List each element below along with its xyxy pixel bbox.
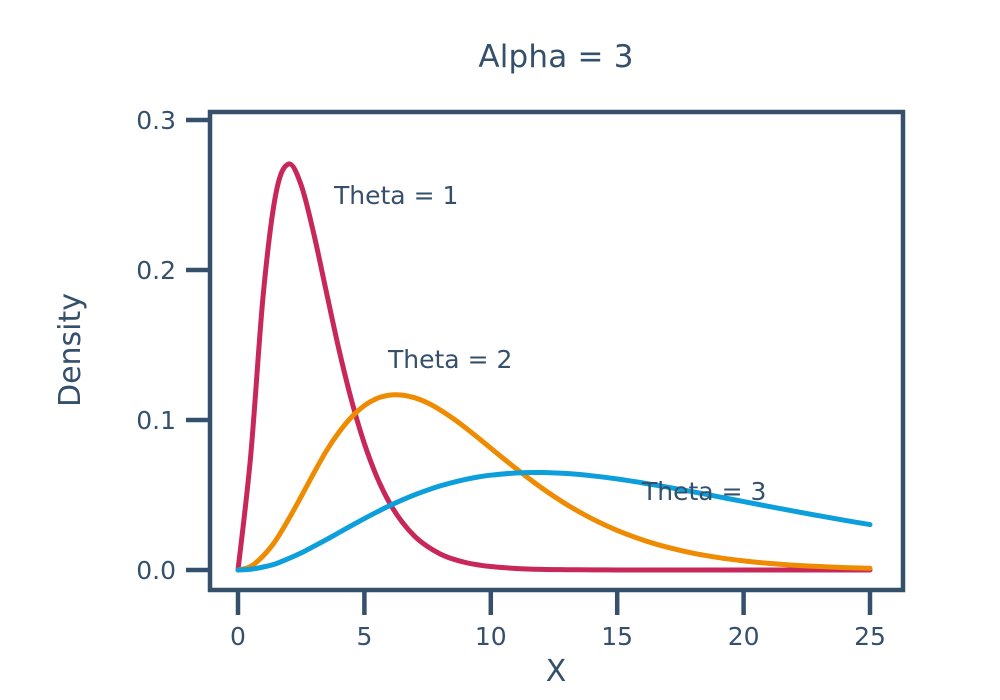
y-tick-label: 0.3 — [136, 106, 176, 135]
y-tick-label: 0.0 — [136, 556, 176, 585]
y-axis-title: Density — [53, 293, 88, 407]
y-tick-label: 0.2 — [136, 256, 176, 285]
series-annotation-label: Theta = 3 — [641, 477, 766, 506]
y-tick-label: 0.1 — [136, 406, 176, 435]
x-tick-label: 0 — [230, 622, 246, 651]
x-tick-label: 20 — [728, 622, 760, 651]
x-axis-title: X — [546, 654, 567, 689]
gamma-density-chart: Alpha = 3 Density X 0.00.10.20.3 0510152… — [0, 0, 1000, 700]
x-tick-label: 15 — [601, 622, 633, 651]
x-tick-label: 5 — [356, 622, 372, 651]
x-tick-label: 25 — [854, 622, 886, 651]
chart-figure: Alpha = 3 Density X 0.00.10.20.3 0510152… — [0, 0, 1000, 700]
series-annotation-label: Theta = 2 — [387, 345, 512, 374]
series-annotation-label: Theta = 1 — [333, 181, 458, 210]
x-tick-label: 10 — [475, 622, 507, 651]
chart-title: Alpha = 3 — [478, 39, 633, 75]
